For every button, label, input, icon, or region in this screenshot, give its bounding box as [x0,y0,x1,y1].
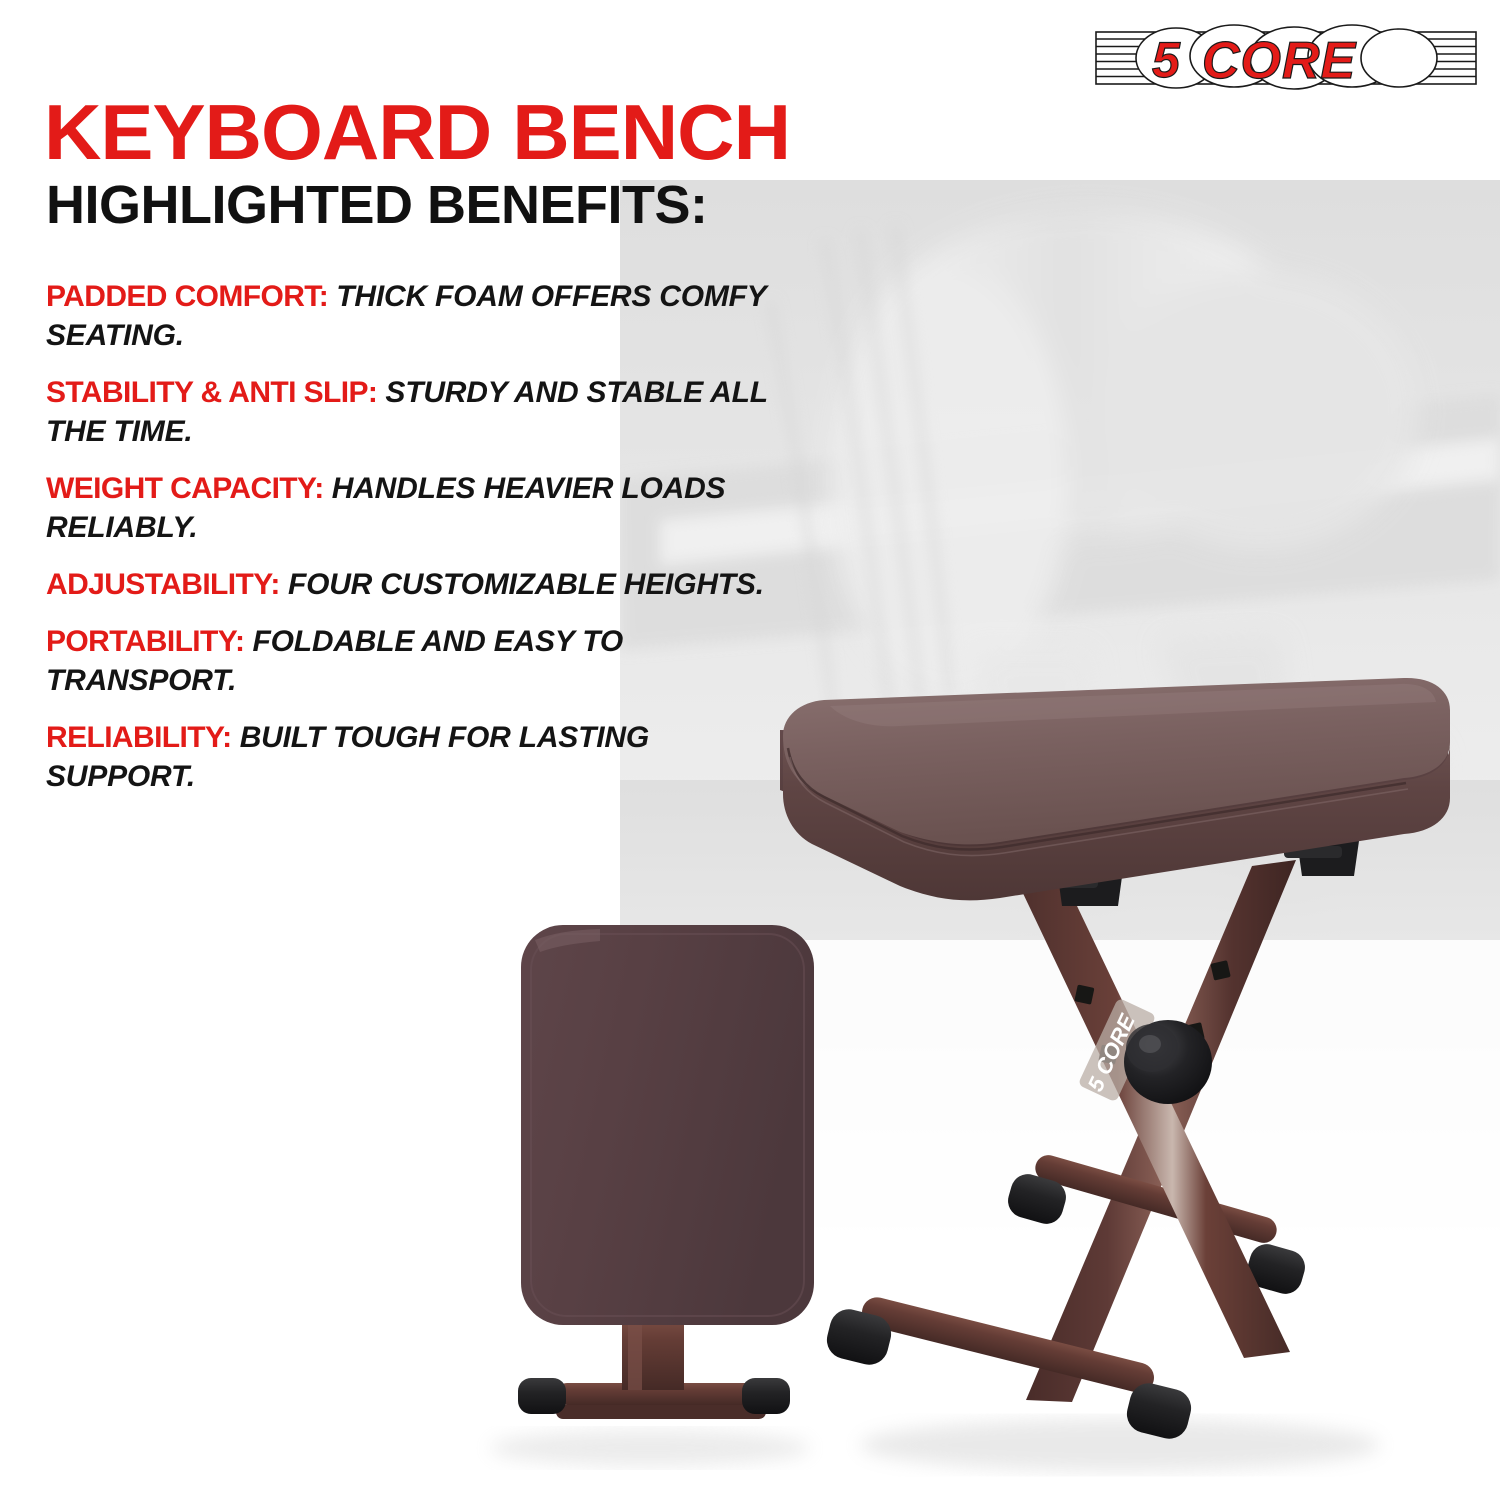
benefit-label: RELIABILITY: [46,721,232,754]
benefit-label: STABILITY & ANTI SLIP: [46,376,377,409]
benefit-item: WEIGHT CAPACITY: HANDLES HEAVIER LOADS R… [46,469,806,547]
benefit-item: PADDED COMFORT: THICK FOAM OFFERS COMFY … [46,277,806,355]
folded-bench-base [518,1318,790,1419]
folded-foot-right-icon [742,1378,790,1414]
main-bench-shadow [860,1419,1380,1471]
page-subtitle: HIGHLIGHTED BENEFITS: [46,178,708,232]
infographic-canvas: 5 CORE KEYBOARD BENCH HIGHLIGHTED BENEFI… [0,0,1500,1500]
benefit-item: STABILITY & ANTI SLIP: STURDY AND STABLE… [46,373,806,451]
logo-word: CORE [1202,32,1357,90]
front-foot-left-icon [823,1305,895,1369]
brand-logo: 5 CORE [1094,22,1478,94]
front-foot-right-icon [1123,1379,1195,1443]
brand-logo-svg: 5 CORE [1094,22,1478,94]
folded-base-tube [556,1383,766,1405]
benefit-label: WEIGHT CAPACITY: [46,472,324,505]
foot-tube-front [823,1294,1195,1443]
benefit-item: PORTABILITY: FOLDABLE AND EASY TO TRANSP… [46,622,806,700]
front-foot-tube [859,1294,1157,1396]
benefits-list: PADDED COMFORT: THICK FOAM OFFERS COMFY … [46,277,806,814]
benefit-label: PADDED COMFORT: [46,280,328,313]
folded-center-post [622,1318,684,1390]
folded-foot-left-icon [518,1378,566,1414]
benefit-item: ADJUSTABILITY: FOUR CUSTOMIZABLE HEIGHTS… [46,565,806,604]
folded-post-highlight [628,1318,642,1390]
benefit-label: ADJUSTABILITY: [46,568,280,601]
benefit-label: PORTABILITY: [46,625,244,658]
folded-cushion-highlight [535,929,600,952]
folded-base-tube-lower [556,1405,766,1419]
page-title: KEYBOARD BENCH [44,95,790,169]
benefit-item: RELIABILITY: BUILT TOUGH FOR LASTING SUP… [46,718,806,796]
folded-bench-shadow [490,1430,810,1466]
logo-number: 5 [1152,32,1181,88]
benefit-description: FOUR CUSTOMIZABLE HEIGHTS. [288,568,764,601]
